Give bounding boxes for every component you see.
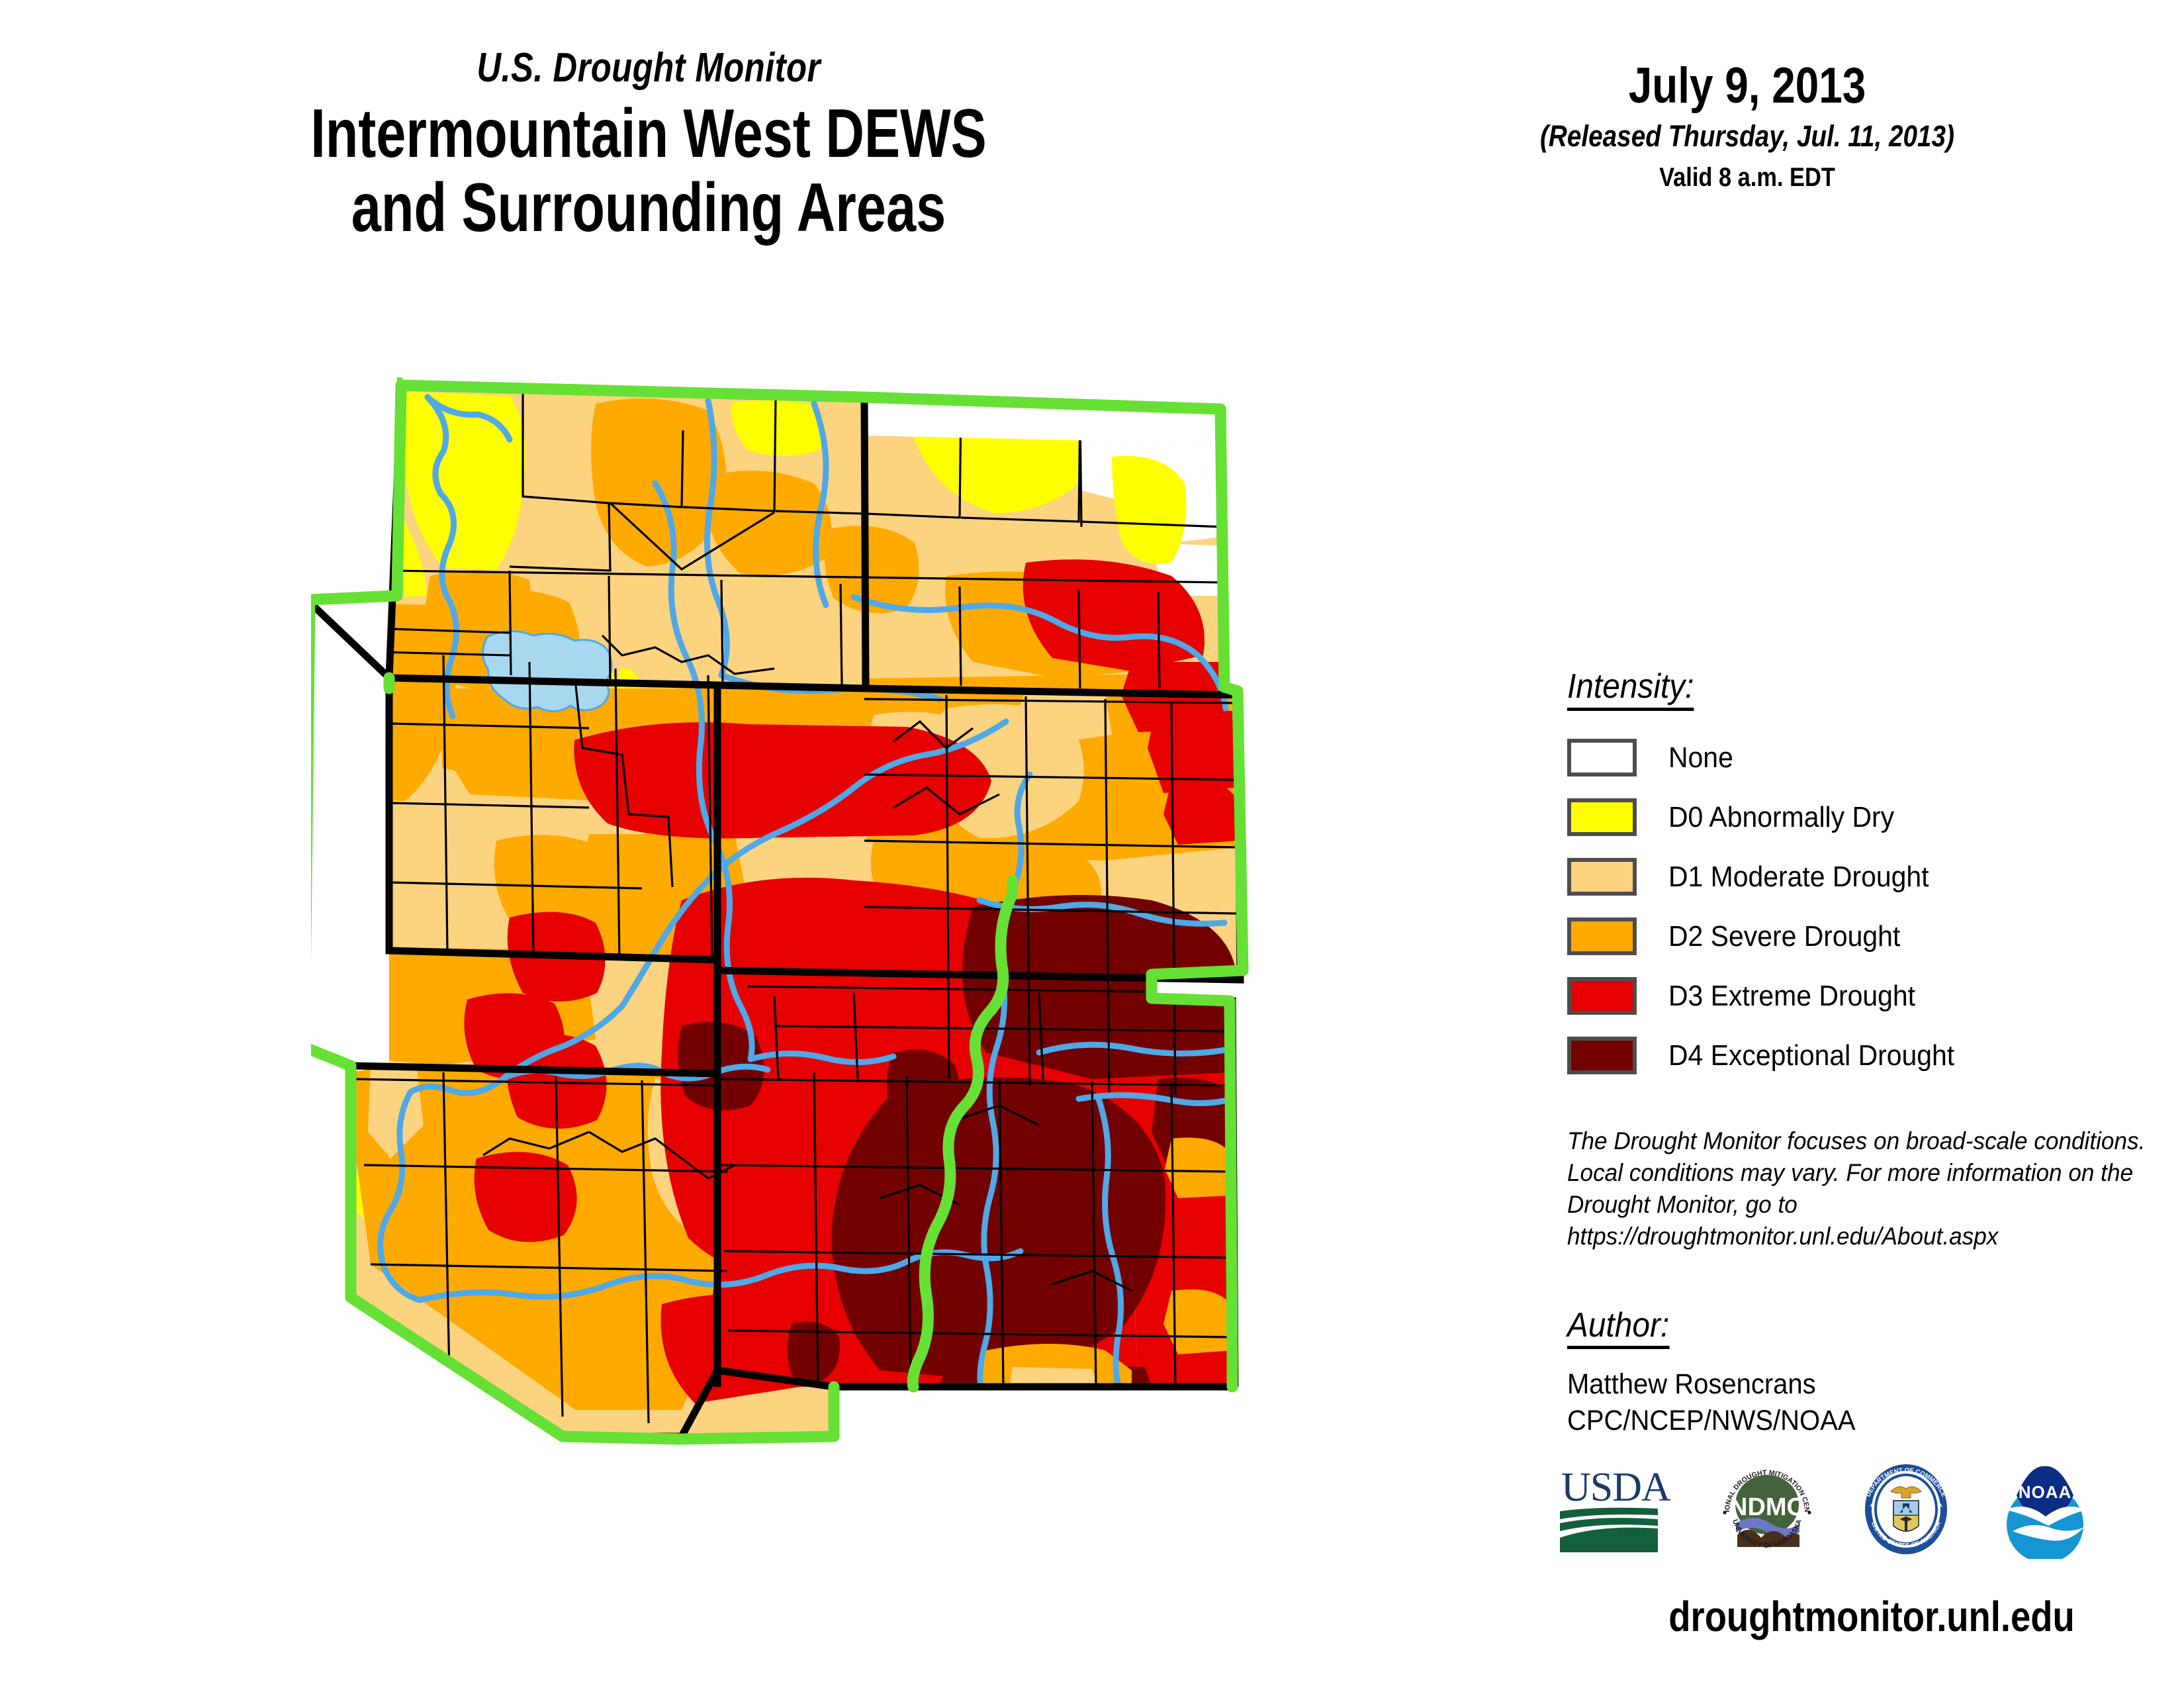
- noaa-logo: NOAA: [1995, 1460, 2095, 1559]
- author-affiliation: CPC/NCEP/NWS/NOAA: [1567, 1403, 2121, 1440]
- legend-item-none[interactable]: None: [1567, 728, 2176, 788]
- legend-swatch-d2: [1567, 917, 1637, 955]
- release-date: (Released Thursday, Jul. 11, 2013): [1485, 119, 2009, 154]
- legend-label-d4: D4 Exceptional Drought: [1668, 1039, 1954, 1072]
- legend-item-d0[interactable]: D0 Abnormally Dry: [1567, 788, 2176, 847]
- legend-label-d3: D3 Extreme Drought: [1668, 980, 1915, 1013]
- usda-logo-text: USDA: [1561, 1465, 1671, 1510]
- valid-date: July 9, 2013: [1492, 60, 2003, 113]
- legend-item-d2[interactable]: D2 Severe Drought: [1567, 907, 2176, 966]
- doc-seal: DEPARTMENT OF COMMERCE UNITED STATES OF …: [1856, 1460, 1956, 1559]
- legend-label-d1: D1 Moderate Drought: [1668, 861, 1929, 894]
- legend-label-none: None: [1668, 741, 1733, 774]
- logo-row: USDA NDMC NATIONAL DROUGHT MITIGATION CE…: [1559, 1446, 2154, 1572]
- footer-url[interactable]: droughtmonitor.unl.edu: [1613, 1592, 2130, 1641]
- legend-swatch-d0: [1567, 798, 1637, 836]
- drought-map-svg[interactable]: [311, 377, 1277, 1575]
- legend-swatch-d1: [1567, 858, 1637, 896]
- supertitle: U.S. Drought Monitor: [116, 48, 1180, 89]
- ndmc-logo: NDMC NATIONAL DROUGHT MITIGATION CENTER …: [1717, 1460, 1817, 1559]
- author-name: Matthew Rosencrans: [1567, 1366, 2121, 1403]
- legend-item-d3[interactable]: D3 Extreme Drought: [1567, 966, 2176, 1026]
- legend: Intensity: None D0 Abnormally Dry D1 Mod…: [1567, 669, 2176, 1086]
- page-title-line2: and Surrounding Areas: [143, 171, 1155, 245]
- legend-label-d0: D0 Abnormally Dry: [1668, 801, 1894, 834]
- page-title: Intermountain West DEWS and Surrounding …: [143, 97, 1155, 246]
- legend-swatch-d4: [1567, 1037, 1637, 1074]
- author-block: Author: Matthew Rosencrans CPC/NCEP/NWS/…: [1567, 1307, 2163, 1440]
- legend-item-d4[interactable]: D4 Exceptional Drought: [1567, 1026, 2176, 1086]
- title-block: U.S. Drought Monitor Intermountain West …: [0, 48, 1297, 246]
- page-title-line1: Intermountain West DEWS: [310, 95, 987, 172]
- legend-heading: Intensity:: [1567, 669, 1694, 711]
- noaa-logo-text: NOAA: [2019, 1482, 2072, 1502]
- usda-logo: USDA: [1559, 1460, 1678, 1559]
- legend-item-d1[interactable]: D1 Moderate Drought: [1567, 847, 2176, 907]
- date-block: July 9, 2013 (Released Thursday, Jul. 11…: [1443, 60, 2052, 193]
- legend-swatch-none: [1567, 739, 1637, 776]
- legend-swatch-d3: [1567, 977, 1637, 1015]
- ndmc-logo-text: NDMC: [1729, 1493, 1805, 1521]
- author-heading: Author:: [1567, 1307, 1669, 1349]
- drought-map[interactable]: [311, 377, 1277, 1575]
- valid-time: Valid 8 a.m. EDT: [1485, 163, 2009, 193]
- disclaimer-text: The Drought Monitor focuses on broad-sca…: [1567, 1125, 2152, 1252]
- legend-label-d2: D2 Severe Drought: [1668, 920, 1900, 953]
